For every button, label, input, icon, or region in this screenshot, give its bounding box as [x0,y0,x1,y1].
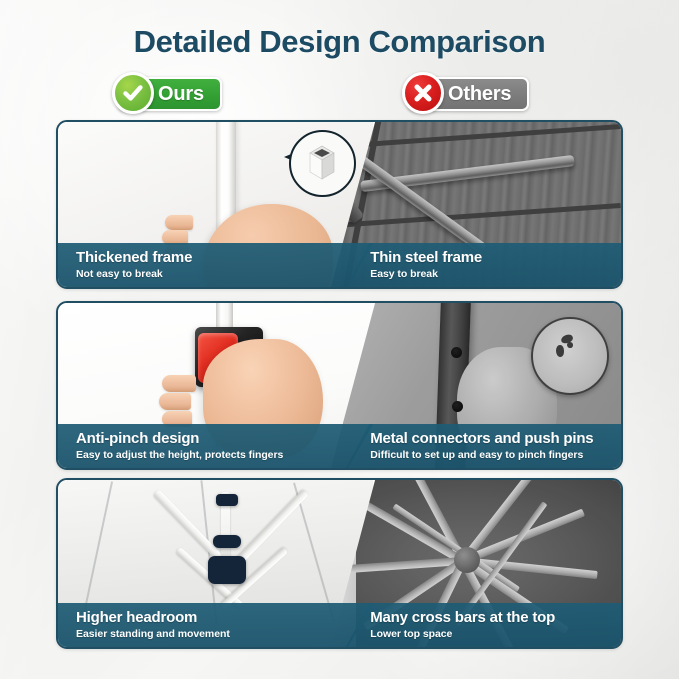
blood-drop-icon [567,342,573,348]
canopy-hub [216,494,238,506]
hand-graphic [203,339,323,457]
finger-graphic [159,393,191,410]
scene-anti-pinch-design [58,303,373,468]
check-circle-icon [112,72,154,114]
comparison-row-frame-thickness: Thickened frame Not easy to break Thin s… [56,120,623,289]
finger-graphic [165,245,189,259]
cross-circle-icon [402,72,444,114]
canopy-hub [208,556,246,584]
finger-graphic [162,230,188,245]
finger-graphic [162,375,196,392]
badge-ours: Ours [118,77,222,111]
comparison-row-headroom: Higher headroom Easier standing and move… [56,478,623,649]
comparison-row-height-adjustment: Anti-pinch design Easy to adjust the hei… [56,301,623,470]
scene-thickened-frame [58,122,373,287]
badge-others: Others [408,77,529,111]
canopy-center-hub [454,547,480,573]
injured-finger-inset [531,317,609,395]
badge-row: Ours Others [0,73,679,115]
panel-ours-headroom [58,480,373,647]
finger-graphic [162,411,192,427]
push-pin-hole [451,347,462,358]
comparison-infographic: Detailed Design Comparison Ours Others [0,0,679,679]
panel-ours-frame [58,122,373,287]
blood-drop-icon [556,345,564,357]
cross-section-callout [289,130,356,197]
hollow-square-tube-icon [308,145,336,183]
canopy-hub [213,535,241,548]
finger-graphic [165,215,193,230]
panel-ours-antipinch [58,303,373,468]
page-title: Detailed Design Comparison [0,24,679,60]
fabric-seam [81,481,113,623]
scene-higher-headroom [58,480,373,647]
